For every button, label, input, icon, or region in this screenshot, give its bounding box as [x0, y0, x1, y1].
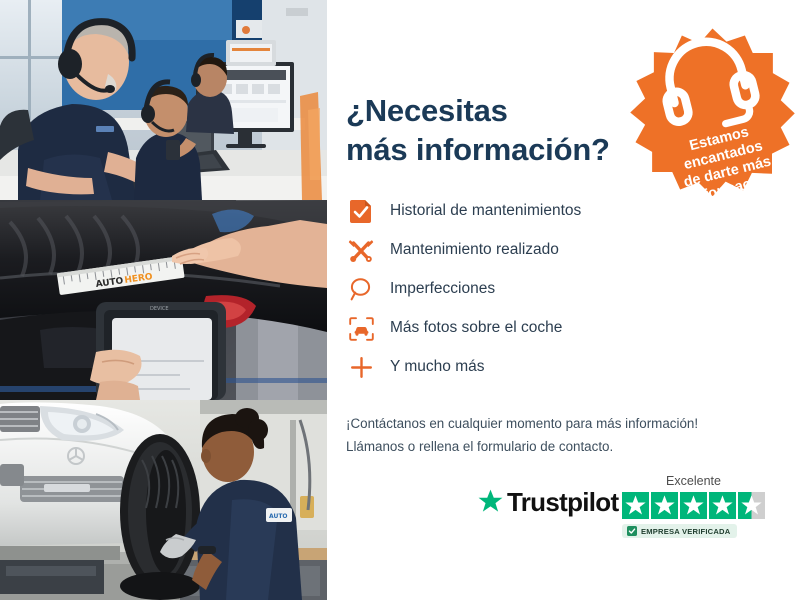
tools-crossed-icon [346, 236, 376, 266]
trustpilot-rating: Excelente [622, 474, 799, 541]
rating-word: Excelente [622, 474, 765, 489]
trustpilot-wordmark: Trustpilot [507, 489, 618, 515]
plus-icon [346, 353, 376, 383]
feature-item-fotos: Más fotos sobre el coche [346, 309, 766, 348]
trustpilot-logo: Trustpilot [477, 488, 618, 515]
svg-text:DEVICE: DEVICE [150, 306, 169, 312]
svg-text:AUTO: AUTO [269, 513, 288, 520]
star-4-full [709, 492, 736, 519]
feature-label: Imperfecciones [390, 280, 495, 299]
photo-call-center-agents [0, 0, 327, 200]
contact-text: ¡Contáctanos en cualquier momento para m… [346, 412, 796, 458]
trustpilot-widget[interactable]: Trustpilot Excelente [477, 474, 799, 554]
feature-item-imperfecciones: Imperfecciones [346, 270, 766, 309]
verified-label: EMPRESA VERIFICADA [641, 527, 730, 536]
feature-item-mantenimiento: Mantenimiento realizado [346, 231, 766, 270]
feature-label: Y mucho más [390, 358, 484, 377]
feature-item-mas: Y mucho más [346, 348, 766, 387]
photo-inspection-ruler: AUTO HERO DEVICE [0, 200, 327, 400]
star-5-half [738, 492, 765, 519]
rating-stars [622, 492, 765, 519]
photo-mechanic-wheel: AUTO [0, 400, 327, 600]
magnifier-icon [346, 275, 376, 305]
trustpilot-star-icon [477, 488, 504, 515]
info-banner: AUTO HERO DEVICE [0, 0, 799, 600]
promo-badge: Estamos encantados de darte más informac… [625, 25, 799, 200]
contact-line-1: ¡Contáctanos en cualquier momento para m… [346, 412, 796, 435]
star-3-full [680, 492, 707, 519]
photo-collage: AUTO HERO DEVICE [0, 0, 327, 600]
content-panel: ¿Necesitas más información? Historial de… [327, 0, 799, 600]
star-1-full [622, 492, 649, 519]
car-focus-icon [346, 314, 376, 344]
headline-line-1: ¿Necesitas [346, 93, 508, 128]
feature-label: Historial de mantenimientos [390, 202, 581, 221]
status-badge: EMPRESA VERIFICADA [622, 524, 737, 538]
verified-check-icon [627, 526, 637, 536]
document-check-icon [346, 197, 376, 227]
feature-label: Más fotos sobre el coche [390, 319, 562, 338]
feature-label: Mantenimiento realizado [390, 241, 559, 260]
starburst-shape [625, 25, 799, 200]
contact-line-2: Llámanos o rellena el formulario de cont… [346, 435, 796, 458]
star-2-full [651, 492, 678, 519]
feature-list: Historial de mantenimientos [346, 192, 766, 387]
